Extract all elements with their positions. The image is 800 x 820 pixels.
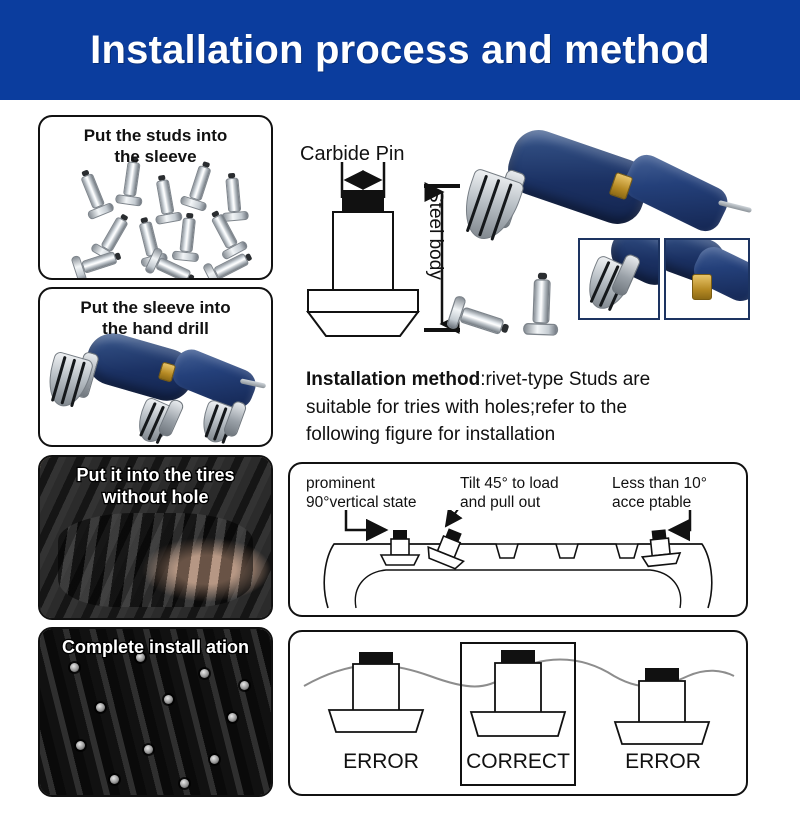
stud-gun-brass-valve-inset [664,238,750,320]
angle-label-1: prominent 90°vertical state [306,474,416,513]
step-4-caption: Complete install ation [40,637,271,659]
angle-label-2-line1: Tilt 45° to load [460,474,559,493]
step-1-caption-line2: the sleeve [40,146,271,167]
loose-studs-photo [462,272,582,342]
tire-cross-section-figure [290,510,746,615]
step-2-caption: Put the sleeve into the hand drill [40,297,271,340]
step-panel-3: Put it into the tires without hole [38,455,273,620]
step-2-caption-line1: Put the sleeve into [40,297,271,318]
error-correct-comparison-panel: ERROR CORRECT ERROR [288,630,748,796]
installation-method-text: Installation method:rivet-type Studs are… [306,366,696,449]
page-title: Installation process and method [90,28,710,73]
error-right-stud [615,668,709,744]
step-panel-2: Put the sleeve into the hand drill [38,287,273,447]
step-3-caption: Put it into the tires without hole [40,465,271,508]
stud-gun-detail-inset-2 [198,393,264,447]
angle-label-1-line1: prominent [306,474,416,493]
step-1-caption-line1: Put the studs into [40,125,271,146]
step-4-caption-line1: Complete install ation [40,637,271,659]
error-label-left: ERROR [326,750,436,774]
installation-angle-panel: prominent 90°vertical state Tilt 45° to … [288,462,748,617]
step-panel-1: Put the studs into the sleeve [38,115,273,280]
stud-gun-chuck-inset [578,238,660,320]
step-1-caption: Put the studs into the sleeve [40,125,271,168]
step-panel-4: Complete install ation [38,627,273,797]
step-3-caption-line1: Put it into the tires [40,465,271,487]
correct-label: CORRECT [462,750,574,774]
angle-label-2: Tilt 45° to load and pull out [460,474,559,513]
angle-label-3: Less than 10° acce ptable [612,474,707,513]
error-label-right: ERROR [608,750,718,774]
error-left-stud [329,652,423,732]
installation-method-bold-prefix: Installation method [306,369,480,390]
step-3-caption-line2: without hole [40,487,271,509]
stud-gun-detail-inset-1 [136,393,196,447]
step-2-caption-line2: the hand drill [40,318,271,339]
angle-label-3-line1: Less than 10° [612,474,707,493]
page-header-banner: Installation process and method [0,0,800,100]
